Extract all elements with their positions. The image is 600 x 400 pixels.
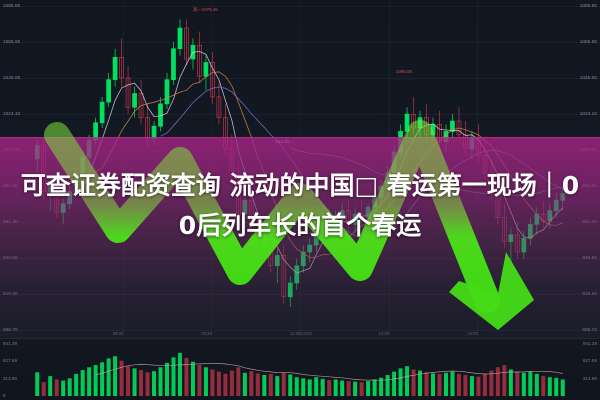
headline-line-1: 可查证券配资查询 流动的中国□ 春运第一现场｜0 [0, 166, 600, 206]
screenshot-root: 1086.801086.801065.901065.901045.001045.… [0, 0, 600, 400]
headline: 可查证券配资查询 流动的中国□ 春运第一现场｜0 0后列车长的首个春运 [0, 166, 600, 246]
headline-line-2: 0后列车长的首个春运 [0, 206, 600, 246]
